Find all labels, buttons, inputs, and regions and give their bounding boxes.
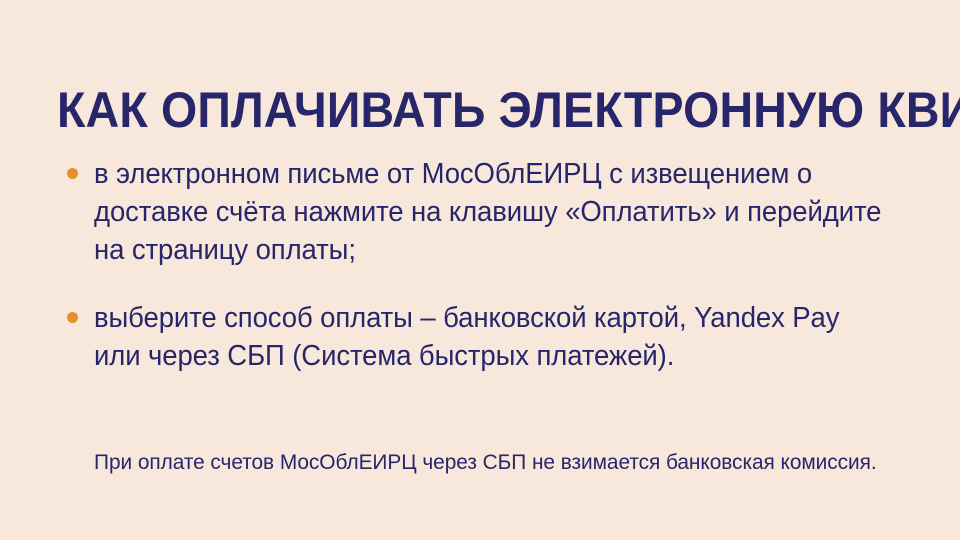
list-item-text: выберите способ оплаты – банковской карт…: [94, 299, 883, 375]
bullet-dot-icon: [67, 312, 78, 323]
footnote-text: При оплате счетов МосОблЕИРЦ через СБП н…: [94, 448, 909, 476]
list-item: в электронном письме от МосОблЕИРЦ с изв…: [60, 155, 912, 269]
page-title: КАК ОПЛАЧИВАТЬ ЭЛЕКТРОННУЮ КВИТАНЦИЮ?: [57, 83, 866, 137]
bullet-dot-icon: [67, 168, 78, 179]
list-item-text: в электронном письме от МосОблЕИРЦ с изв…: [94, 155, 883, 269]
bullet-list: в электронном письме от МосОблЕИРЦ с изв…: [60, 155, 912, 375]
slide-canvas: КАК ОПЛАЧИВАТЬ ЭЛЕКТРОННУЮ КВИТАНЦИЮ? в …: [0, 0, 960, 540]
list-item: выберите способ оплаты – банковской карт…: [60, 299, 912, 375]
